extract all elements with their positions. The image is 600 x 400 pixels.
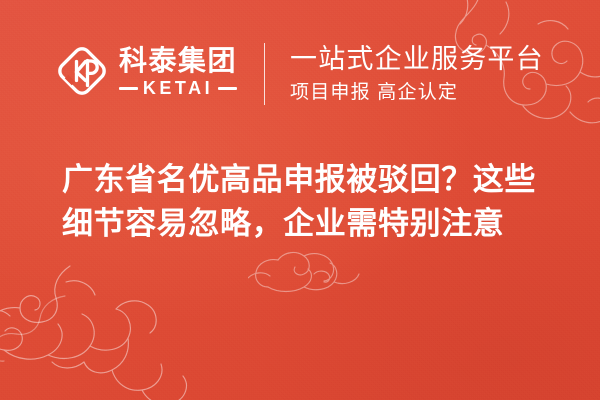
headline-line-2: 细节容易忽略，企业需特别注意 [62, 202, 542, 246]
logo-dash-left [119, 87, 138, 90]
cloud-pattern-left-mid-icon [0, 292, 70, 362]
cloud-pattern-bottom-left-icon [0, 264, 193, 400]
ketai-diamond-kp-monogram-icon [56, 45, 108, 97]
headline-line-1: 广东省名优高品申报被驳回？这些 [62, 158, 542, 202]
brand-logo[interactable]: 科泰集团 KETAI [56, 44, 237, 104]
logo-english-name: KETAI [143, 79, 213, 97]
cloud-pattern-center-icon [248, 250, 360, 296]
tagline-primary: 一站式企业服务平台 [290, 43, 544, 75]
logo-chinese-name: 科泰集团 [119, 46, 237, 76]
header-divider [264, 43, 265, 105]
promo-banner: 科泰集团 KETAI 一站式企业服务平台 项目申报 高企认定 广东省名优高品申报… [0, 0, 600, 400]
tagline-secondary: 项目申报 高企认定 [290, 81, 544, 105]
logo-wordmark: 科泰集团 KETAI [119, 44, 237, 97]
logo-dash-right [218, 87, 237, 90]
tagline-block: 一站式企业服务平台 项目申报 高企认定 [290, 43, 544, 105]
logo-english-row: KETAI [119, 79, 237, 97]
banner-header: 科泰集团 KETAI 一站式企业服务平台 项目申报 高企认定 [0, 38, 600, 110]
headline-block: 广东省名优高品申报被驳回？这些 细节容易忽略，企业需特别注意 [62, 158, 542, 246]
